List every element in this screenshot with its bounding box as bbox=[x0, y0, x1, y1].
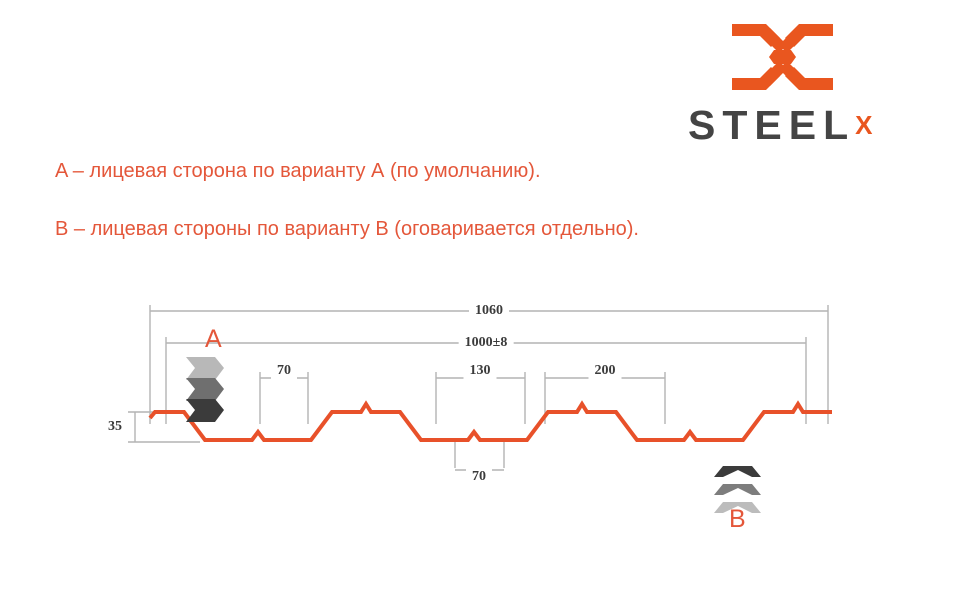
dimension-extension-lines bbox=[128, 305, 828, 468]
dimension-label-1060: 1060 bbox=[469, 303, 509, 319]
marker-a-chevrons bbox=[186, 357, 224, 422]
marker-a-label: A bbox=[205, 325, 222, 354]
dimension-label-70-top: 70 bbox=[271, 363, 297, 379]
profile-technical-drawing bbox=[0, 0, 970, 597]
dimension-label-1000: 1000±8 bbox=[459, 335, 514, 351]
sheet-profile-polyline bbox=[150, 404, 832, 440]
dimension-label-130: 130 bbox=[464, 363, 497, 379]
dimension-label-70-bottom: 70 bbox=[466, 469, 492, 485]
dimension-label-35: 35 bbox=[102, 419, 128, 435]
marker-b-label: B bbox=[729, 505, 746, 534]
dimension-label-200: 200 bbox=[589, 363, 622, 379]
